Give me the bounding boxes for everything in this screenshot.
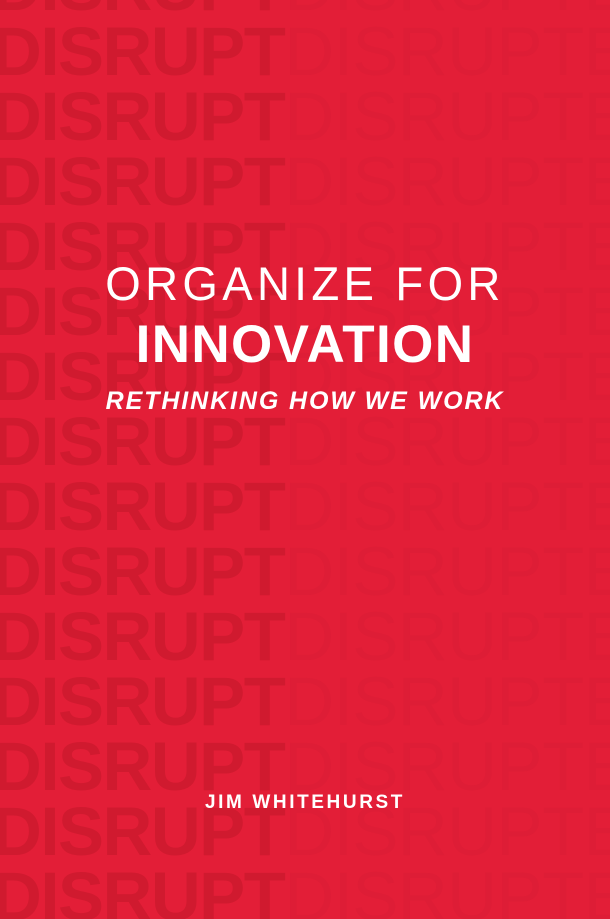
book-cover: DISRUPTDISRUPTEDDISRUPTDISRUPTEDDISRUPTD… xyxy=(0,0,610,919)
watermark-word-bold: DISRUPT xyxy=(0,0,284,25)
watermark-word-bold: DISRUPT xyxy=(0,858,284,919)
watermark-row: DISRUPTDISRUPTED xyxy=(0,474,610,539)
watermark-row: DISRUPTDISRUPTED xyxy=(0,669,610,734)
author-name: JIM WHITEHURST xyxy=(0,791,610,815)
watermark-word-bold: DISRUPT xyxy=(0,468,284,545)
watermark-row: DISRUPTDISRUPTED xyxy=(0,0,610,19)
watermark-row: DISRUPTDISRUPTED xyxy=(0,864,610,919)
title-line-emphasis: INNOVATION xyxy=(0,316,610,374)
background-watermark-pattern: DISRUPTDISRUPTEDDISRUPTDISRUPTEDDISRUPTD… xyxy=(0,0,610,919)
watermark-row: DISRUPTDISRUPTED xyxy=(0,409,610,474)
watermark-row: DISRUPTDISRUPTED xyxy=(0,604,610,669)
watermark-row: DISRUPTDISRUPTED xyxy=(0,84,610,149)
title-block: ORGANIZE FOR INNOVATION RETHINKING HOW W… xyxy=(0,258,610,416)
watermark-word-bold: DISRUPT xyxy=(0,663,284,740)
watermark-row: DISRUPTDISRUPTED xyxy=(0,149,610,214)
watermark-word-thin: DISRUPTED xyxy=(284,663,610,740)
watermark-word-bold: DISRUPT xyxy=(0,598,284,675)
watermark-word-thin: DISRUPTED xyxy=(284,13,610,90)
watermark-word-thin: DISRUPTED xyxy=(284,858,610,919)
watermark-word-thin: DISRUPTED xyxy=(284,598,610,675)
watermark-row: DISRUPTDISRUPTED xyxy=(0,539,610,604)
watermark-row: DISRUPTDISRUPTED xyxy=(0,19,610,84)
watermark-word-thin: DISRUPTED xyxy=(284,78,610,155)
watermark-word-bold: DISRUPT xyxy=(0,78,284,155)
watermark-word-bold: DISRUPT xyxy=(0,143,284,220)
watermark-word-bold: DISRUPT xyxy=(0,13,284,90)
watermark-row: DISRUPTDISRUPTED xyxy=(0,734,610,799)
subtitle: RETHINKING HOW WE WORK xyxy=(0,386,610,416)
watermark-word-thin: DISRUPTED xyxy=(284,533,610,610)
watermark-word-thin: DISRUPTED xyxy=(284,0,610,25)
watermark-word-bold: DISRUPT xyxy=(0,533,284,610)
watermark-word-thin: DISRUPTED xyxy=(284,143,610,220)
watermark-word-thin: DISRUPTED xyxy=(284,468,610,545)
title-line-primary: ORGANIZE FOR xyxy=(9,258,601,310)
